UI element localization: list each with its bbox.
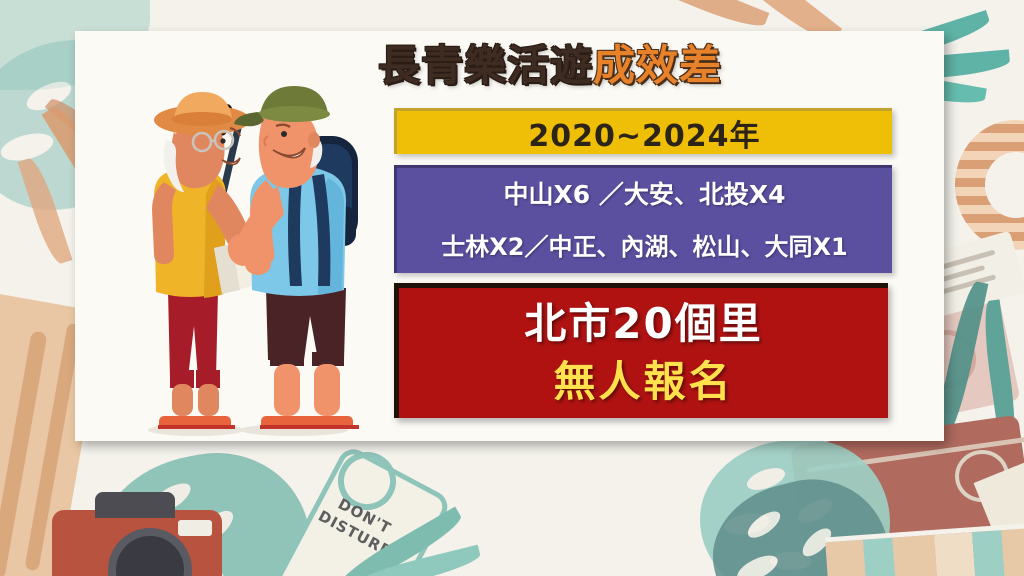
alert-banner: 北市20個里 無人報名 bbox=[394, 283, 888, 418]
districts-line-2: 士林X2／中正、內湖、松山、大同X1 bbox=[441, 221, 847, 273]
palm-frond-icon bbox=[641, 0, 770, 34]
page-title: 長青樂活遊成效差 bbox=[230, 41, 870, 91]
alert-line-1: 北市20個里 bbox=[524, 295, 762, 353]
camera-flash-icon bbox=[178, 520, 212, 536]
alert-line-2: 無人報名 bbox=[553, 353, 733, 411]
title-dark-text: 長青樂活遊 bbox=[378, 41, 593, 90]
years-banner: 2020~2024年 bbox=[394, 108, 892, 154]
infographic-stage: DON'T DISTURB bbox=[0, 0, 1024, 576]
districts-banner: 中山X6 ／大安、北投X4 士林X2／中正、內湖、松山、大同X1 bbox=[394, 165, 892, 273]
title-orange-text: 成效差 bbox=[593, 41, 722, 90]
camera-viewfinder-icon bbox=[95, 492, 175, 518]
elderly-tourists-illustration bbox=[118, 78, 398, 448]
districts-line-1: 中山X6 ／大安、北投X4 bbox=[503, 169, 785, 221]
years-banner-label: 2020~2024年 bbox=[528, 111, 760, 155]
